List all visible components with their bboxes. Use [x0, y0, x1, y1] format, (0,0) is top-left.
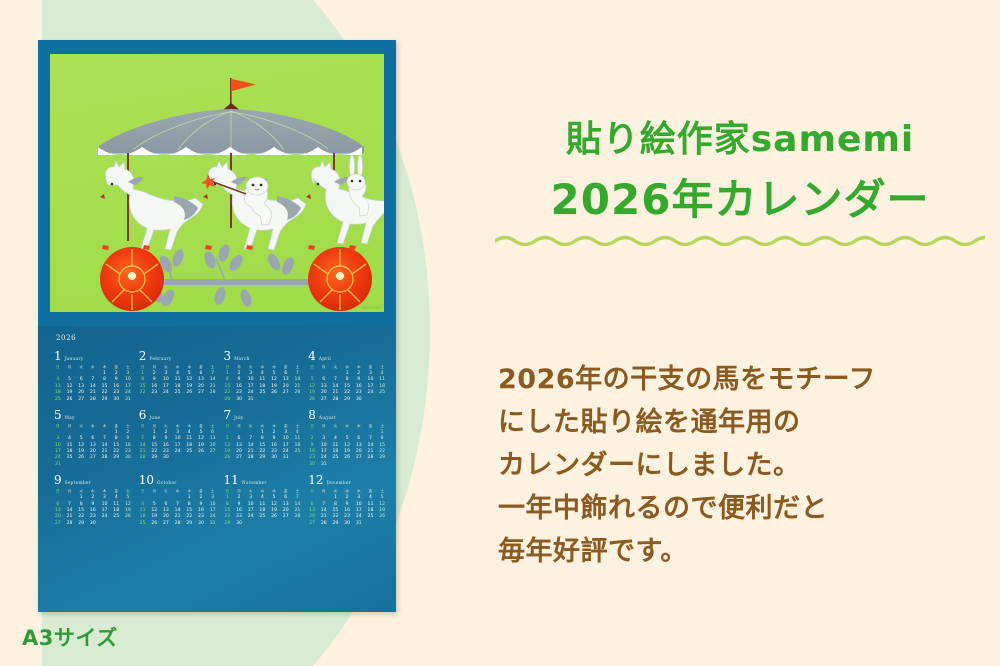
weekday-label: 水 [257, 364, 269, 371]
month-number: 8 [308, 409, 316, 421]
month-name: March [234, 356, 250, 361]
day-cell: 25 [172, 390, 184, 396]
month-day-grid: 日月火水木金土123456789101112131415161718192021… [222, 364, 304, 403]
weekday-label: 火 [160, 488, 172, 495]
week-row: 262728293031 [222, 455, 304, 461]
day-cell: 29 [148, 455, 160, 461]
empty-day-cell [110, 521, 122, 527]
empty-day-cell [292, 521, 304, 527]
weekday-label: 土 [207, 364, 219, 371]
week-row: 22232425262728 [137, 390, 219, 396]
empty-day-cell [87, 462, 99, 468]
day-cell: 22 [137, 390, 149, 396]
month-header: 1January [52, 350, 134, 362]
day-cell: 29 [330, 521, 342, 527]
day-cell: 27 [75, 397, 87, 403]
empty-day-cell [268, 397, 280, 403]
day-cell: 28 [64, 521, 76, 527]
month-header: 2February [137, 350, 219, 362]
week-row: 31 [52, 462, 134, 468]
weekday-label: 水 [341, 364, 353, 371]
weekday-label: 日 [222, 423, 234, 430]
weekday-label: 月 [233, 364, 245, 371]
promo-description-line: 毎年好評です。 [498, 530, 998, 573]
empty-day-cell [64, 462, 76, 468]
weekday-label: 木 [268, 423, 280, 430]
weekday-label: 日 [137, 488, 149, 495]
weekday-label: 木 [99, 364, 111, 371]
artist-signature: samemi [362, 305, 380, 310]
weekday-label: 日 [222, 364, 234, 371]
weekday-header-row: 日月火水木金土 [137, 364, 219, 371]
month-day-grid: 日月火水木金土 12345678910111213141516171819202… [52, 488, 134, 527]
weekday-label: 木 [183, 423, 195, 430]
empty-day-cell [122, 462, 134, 468]
month-name: June [149, 415, 160, 420]
empty-day-cell [280, 521, 292, 527]
day-cell: 28 [318, 521, 330, 527]
weekday-label: 日 [306, 423, 318, 430]
day-cell: 28 [172, 521, 184, 527]
weekday-header-row: 日月火水木金土 [52, 423, 134, 430]
day-cell: 28 [87, 397, 99, 403]
day-cell: 29 [75, 521, 87, 527]
day-cell: 26 [148, 521, 160, 527]
week-row: 2930 [222, 521, 304, 527]
empty-day-cell [268, 521, 280, 527]
weekday-label: 日 [306, 364, 318, 371]
month-header: 5May [52, 409, 134, 421]
empty-day-cell [110, 462, 122, 468]
day-cell: 28 [207, 390, 219, 396]
weekday-label: 金 [195, 364, 207, 371]
carousel-flag-icon [230, 78, 256, 104]
day-cell: 27 [52, 521, 64, 527]
day-cell: 30 [353, 397, 365, 403]
month-name: January [65, 356, 84, 361]
day-cell: 29 [222, 397, 234, 403]
red-flower-ornament [308, 247, 372, 311]
day-cell: 27 [233, 455, 245, 461]
calendar-grid-panel: 2026 1January日月火水木金土 1234567891011121314… [38, 326, 396, 612]
weekday-label: 木 [183, 364, 195, 371]
weekday-label: 土 [376, 423, 388, 430]
weekday-header-row: 日月火水木金土 [222, 364, 304, 371]
day-cell: 25 [52, 397, 64, 403]
empty-day-cell [353, 462, 365, 468]
empty-day-cell [330, 462, 342, 468]
promo-description: 2026年の干支の馬をモチーフにした貼り絵を通年用のカレンダーにしました。一年中… [498, 358, 998, 573]
empty-day-cell [292, 455, 304, 461]
month-block: 10October日月火水木金土 12345678910111213141516… [137, 474, 219, 527]
weekday-label: 水 [172, 488, 184, 495]
month-block: 5May日月火水木金土 1234567891011121314151617181… [52, 409, 134, 468]
empty-day-cell [376, 521, 388, 527]
promo-description-line: カレンダーにしました。 [498, 444, 998, 487]
weekday-label: 水 [172, 364, 184, 371]
week-row: 25262728293031 [137, 521, 219, 527]
day-cell: 28 [137, 455, 149, 461]
calendar-year-label: 2026 [56, 334, 76, 342]
day-cell: 29 [341, 397, 353, 403]
weekday-label: 木 [353, 364, 365, 371]
empty-day-cell [376, 397, 388, 403]
headline-line-1: 貼り絵作家samemi [490, 110, 990, 162]
weekday-label: 月 [64, 488, 76, 495]
month-block: 6June日月火水木金土 123456789101112131415161718… [137, 409, 219, 468]
weekday-label: 火 [75, 364, 87, 371]
day-cell: 26 [306, 397, 318, 403]
size-label: A3サイズ [22, 622, 118, 652]
weekday-label: 水 [172, 423, 184, 430]
month-header: 3March [222, 350, 304, 362]
weekday-label: 日 [52, 364, 64, 371]
weekday-label: 金 [110, 364, 122, 371]
month-number: 4 [308, 350, 316, 362]
day-cell: 30 [306, 462, 318, 468]
day-cell: 30 [341, 521, 353, 527]
weekday-label: 火 [330, 423, 342, 430]
month-day-grid: 日月火水木金土 12345678910111213141516171819202… [137, 488, 219, 527]
month-block: 2February日月火水木金土123456789101112131415161… [137, 350, 219, 403]
weekday-label: 金 [195, 423, 207, 430]
weekday-header-row: 日月火水木金土 [137, 423, 219, 430]
weekday-label: 金 [280, 364, 292, 371]
promo-banner: samemi 2026 1January日月火水木金土 123456789101… [0, 0, 1000, 666]
day-cell: 30 [233, 521, 245, 527]
weekday-label: 月 [64, 423, 76, 430]
day-cell: 31 [318, 462, 330, 468]
month-header: 4April [306, 350, 388, 362]
month-header: 10October [137, 474, 219, 486]
month-number: 2 [139, 350, 147, 362]
weekday-label: 水 [87, 364, 99, 371]
month-day-grid: 日月火水木金土123456789101112131415161718192021… [222, 488, 304, 527]
carousel-illustration: samemi [50, 54, 384, 312]
promo-description-line: 一年中飾れるので便利だと [498, 487, 998, 530]
empty-day-cell [341, 462, 353, 468]
empty-day-cell [75, 462, 87, 468]
weekday-header-row: 日月火水木金土 [137, 488, 219, 495]
month-day-grid: 日月火水木金土 12345678910111213141516171819202… [52, 364, 134, 403]
month-number: 11 [224, 474, 239, 486]
day-cell: 30 [233, 397, 245, 403]
month-number: 5 [54, 409, 62, 421]
month-block: 11November日月火水木金土12345678910111213141516… [222, 474, 304, 527]
month-number: 7 [224, 409, 232, 421]
month-name: September [65, 480, 91, 485]
day-cell: 31 [207, 521, 219, 527]
day-cell: 27 [306, 521, 318, 527]
month-block: 7July日月火水木金土 123456789101112131415161718… [222, 409, 304, 468]
leaf-ornaments [149, 243, 296, 308]
empty-day-cell [257, 397, 269, 403]
weekday-label: 月 [318, 364, 330, 371]
month-name: February [149, 356, 171, 361]
weekday-label: 土 [376, 364, 388, 371]
weekday-label: 金 [110, 423, 122, 430]
month-block: 12December日月火水木金土 1234567891011121314151… [306, 474, 388, 527]
empty-day-cell [280, 397, 292, 403]
month-header: 8August [306, 409, 388, 421]
day-cell: 30 [195, 521, 207, 527]
week-row: 2728293031 [306, 521, 388, 527]
day-cell: 29 [183, 521, 195, 527]
week-row: 25262728293031 [52, 397, 134, 403]
month-header: 11November [222, 474, 304, 486]
month-day-grid: 日月火水木金土 12345678910111213141516171819202… [306, 488, 388, 527]
weekday-label: 月 [318, 488, 330, 495]
month-day-grid: 日月火水木金土 12345678910111213141516171819202… [52, 423, 134, 468]
month-number: 12 [308, 474, 323, 486]
empty-day-cell [376, 462, 388, 468]
day-cell: 31 [280, 455, 292, 461]
month-block: 4April日月火水木金土 12345678910111213141516171… [306, 350, 388, 403]
background-left-margin [0, 0, 42, 666]
weekday-label: 火 [330, 364, 342, 371]
weekday-label: 火 [245, 364, 257, 371]
weekday-label: 土 [207, 423, 219, 430]
calendar-months-container: 1January日月火水木金土 123456789101112131415161… [52, 350, 388, 527]
weekday-label: 月 [233, 423, 245, 430]
carousel-horse [100, 161, 203, 250]
headline-line-2: 2026年カレンダー [490, 166, 990, 227]
month-name: December [327, 480, 352, 485]
week-row: 293031 [222, 397, 304, 403]
weekday-label: 水 [257, 423, 269, 430]
empty-day-cell [195, 455, 207, 461]
day-cell: 26 [64, 397, 76, 403]
promo-text-column: 貼り絵作家samemi 2026年カレンダー 2026年の干支の馬をモチーフにし… [490, 0, 1000, 666]
wavy-divider-icon [495, 232, 985, 246]
day-cell: 27 [195, 390, 207, 396]
weekday-header-row: 日月火水木金土 [306, 364, 388, 371]
day-cell: 30 [110, 397, 122, 403]
day-cell: 23 [148, 390, 160, 396]
weekday-label: 金 [365, 364, 377, 371]
day-cell: 26 [183, 390, 195, 396]
weekday-label: 日 [52, 423, 64, 430]
day-cell: 27 [318, 397, 330, 403]
empty-day-cell [365, 462, 377, 468]
month-day-grid: 日月火水木金土 12345678910111213141516171819202… [137, 423, 219, 462]
day-cell: 31 [245, 397, 257, 403]
day-cell: 27 [160, 521, 172, 527]
week-row: 2627282930 [306, 397, 388, 403]
empty-day-cell [99, 462, 111, 468]
day-cell: 31 [52, 462, 64, 468]
weekday-label: 土 [292, 423, 304, 430]
empty-day-cell [172, 455, 184, 461]
month-day-grid: 日月火水木金土 12345678910111213141516171819202… [306, 423, 388, 468]
weekday-label: 木 [268, 364, 280, 371]
month-number: 9 [54, 474, 62, 486]
month-number: 3 [224, 350, 232, 362]
carousel-horse [306, 161, 384, 250]
weekday-label: 木 [99, 423, 111, 430]
month-block: 9September日月火水木金土 1234567891011121314151… [52, 474, 134, 527]
promo-description-line: 2026年の干支の馬をモチーフ [498, 358, 998, 401]
weekday-header-row: 日月火水木金土 [306, 423, 388, 430]
empty-day-cell [183, 455, 195, 461]
weekday-label: 日 [306, 488, 318, 495]
month-name: April [319, 356, 331, 361]
weekday-label: 火 [75, 423, 87, 430]
month-number: 6 [139, 409, 147, 421]
month-name: May [65, 415, 75, 420]
day-cell: 31 [122, 397, 134, 403]
weekday-header-row: 日月火水木金土 [222, 423, 304, 430]
week-row: 3031 [306, 462, 388, 468]
month-day-grid: 日月火水木金土 12345678910111213141516171819202… [306, 364, 388, 403]
empty-day-cell [292, 397, 304, 403]
weekday-label: 日 [137, 423, 149, 430]
empty-day-cell [257, 521, 269, 527]
day-cell: 28 [330, 397, 342, 403]
weekday-label: 土 [122, 423, 134, 430]
weekday-label: 日 [52, 488, 64, 495]
red-flower-ornament [100, 247, 164, 311]
weekday-header-row: 日月火水木金土 [52, 364, 134, 371]
day-cell: 29 [257, 455, 269, 461]
weekday-label: 月 [148, 488, 160, 495]
day-cell: 30 [87, 521, 99, 527]
month-name: August [319, 415, 336, 420]
weekday-label: 金 [280, 423, 292, 430]
day-cell: 30 [160, 455, 172, 461]
day-cell: 28 [245, 455, 257, 461]
day-cell: 26 [222, 455, 234, 461]
weekday-label: 月 [64, 364, 76, 371]
week-row: 282930 [137, 455, 219, 461]
weekday-label: 月 [318, 423, 330, 430]
calendar-poster[interactable]: samemi 2026 1January日月火水木金土 123456789101… [38, 40, 396, 612]
empty-day-cell [207, 455, 219, 461]
promo-description-line: にした貼り絵を通年用の [498, 401, 998, 444]
day-cell: 24 [160, 390, 172, 396]
empty-day-cell [122, 521, 134, 527]
month-day-grid: 日月火水木金土123456789101112131415161718192021… [137, 364, 219, 397]
carousel-artwork-svg [50, 54, 384, 312]
weekday-label: 水 [87, 423, 99, 430]
month-name: July [234, 415, 243, 420]
month-number: 1 [54, 350, 62, 362]
month-header: 12December [306, 474, 388, 486]
month-block: 1January日月火水木金土 123456789101112131415161… [52, 350, 134, 403]
weekday-label: 月 [148, 423, 160, 430]
month-name: October [157, 480, 177, 485]
day-cell: 25 [137, 521, 149, 527]
month-header: 7July [222, 409, 304, 421]
weekday-label: 火 [160, 364, 172, 371]
month-block: 8August日月火水木金土 1234567891011121314151617… [306, 409, 388, 468]
month-header: 6June [137, 409, 219, 421]
headline-block: 貼り絵作家samemi 2026年カレンダー [490, 110, 990, 227]
empty-day-cell [365, 521, 377, 527]
month-day-grid: 日月火水木金土 12345678910111213141516171819202… [222, 423, 304, 462]
day-cell: 29 [99, 397, 111, 403]
weekday-label: 月 [148, 364, 160, 371]
empty-day-cell [365, 397, 377, 403]
month-block: 3March日月火水木金土123456789101112131415161718… [222, 350, 304, 403]
week-row: 27282930 [52, 521, 134, 527]
empty-day-cell [245, 521, 257, 527]
day-cell: 30 [268, 455, 280, 461]
month-name: November [242, 480, 267, 485]
month-number: 10 [139, 474, 154, 486]
weekday-label: 火 [160, 423, 172, 430]
day-cell: 31 [353, 521, 365, 527]
weekday-label: 木 [353, 423, 365, 430]
weekday-label: 土 [292, 364, 304, 371]
month-header: 9September [52, 474, 134, 486]
weekday-label: 火 [245, 423, 257, 430]
day-cell: 29 [222, 521, 234, 527]
empty-day-cell [99, 521, 111, 527]
weekday-label: 日 [137, 364, 149, 371]
weekday-label: 土 [122, 364, 134, 371]
weekday-label: 水 [341, 423, 353, 430]
weekday-label: 金 [365, 423, 377, 430]
